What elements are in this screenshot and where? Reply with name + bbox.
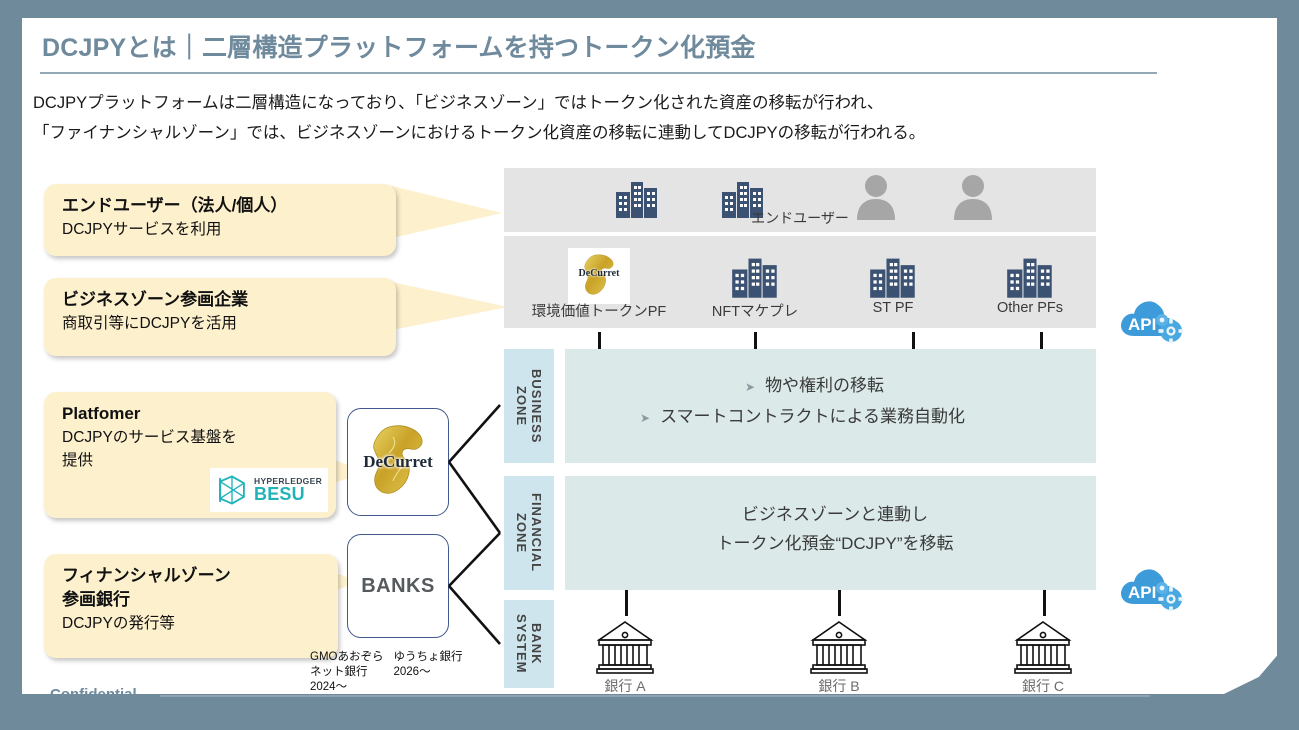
zone-tab-bank-system: BANK SYSTEM bbox=[504, 600, 554, 688]
callout-enduser-title: エンドユーザー（法人/個人） bbox=[62, 194, 382, 218]
hyperledger-besu-logo: HYPERLEDGER BESU bbox=[210, 468, 328, 512]
zone-tab-financial-label: FINANCIAL ZONE bbox=[514, 476, 544, 590]
api-cloud-icon: API bbox=[1116, 558, 1190, 618]
zone-business-bullet-2: スマートコントラクトによる業務自動化 bbox=[640, 402, 1060, 433]
page-title: DCJPYとは｜二層構造プラットフォームを持つトークン化預金 bbox=[42, 28, 756, 64]
bank-label-c: 銀行 C bbox=[1022, 676, 1064, 696]
api-cloud-icon: API bbox=[1116, 290, 1190, 350]
bank-icon bbox=[594, 618, 656, 676]
bank-note-gmo-line2: ネット銀行 bbox=[310, 665, 383, 680]
entity-box-decurret: DeCurret bbox=[347, 408, 449, 516]
callout-platformer: Platfomer DCJPYのサービス基盤を 提供 HYPERLEDGER B… bbox=[44, 392, 336, 518]
bank-label-a: 銀行 A bbox=[604, 676, 645, 696]
api-label: API bbox=[1128, 315, 1156, 334]
lede-line-1: DCJPYプラットフォームは二層構造になっており、「ビジネスゾーン」ではトークン… bbox=[33, 88, 1213, 118]
api-cloud-business: API bbox=[1116, 290, 1190, 355]
bank-note-gmo-line3: 2024〜 bbox=[310, 680, 383, 695]
callout-financial-banks: フィナンシャルゾーン 参画銀行 DCJPYの発行等 bbox=[44, 554, 338, 658]
platform-label-other: Other PFs bbox=[997, 300, 1063, 316]
callout-platformer-sub-1: DCJPYのサービス基盤を bbox=[62, 426, 322, 449]
platform-decurret-logo: DeCurret bbox=[568, 248, 630, 304]
zone-financial-line-2: トークン化預金“DCJPY”を移転 bbox=[600, 529, 1070, 558]
callout-business-sub: 商取引等にDCJPYを活用 bbox=[62, 312, 382, 335]
zone-financial-line-1: ビジネスゾーンと連動し bbox=[600, 500, 1070, 529]
building-icon bbox=[868, 252, 918, 300]
confidential-label: Confidential bbox=[50, 686, 137, 703]
participating-bank-notes: GMOあおぞら ネット銀行 2024〜 ゆうちょ銀行 2026〜 bbox=[310, 650, 510, 695]
bank-label-b: 銀行 B bbox=[818, 676, 859, 696]
footer-divider bbox=[160, 695, 1150, 697]
connector-bank-1 bbox=[625, 590, 628, 616]
connector-bank-3 bbox=[1043, 590, 1046, 616]
bank-note-gmo: GMOあおぞら ネット銀行 2024〜 bbox=[310, 650, 383, 695]
zone-business-text: 物や権利の移転 スマートコントラクトによる業務自動化 bbox=[640, 371, 1060, 433]
slide-root: DCJPYとは｜二層構造プラットフォームを持つトークン化預金 DCJPYプラット… bbox=[0, 0, 1299, 730]
zone-tab-financial: FINANCIAL ZONE bbox=[504, 476, 554, 590]
platform-decurret-wordmark: DeCurret bbox=[568, 268, 630, 279]
callout-financial-title-2: 参画銀行 bbox=[62, 588, 324, 612]
bank-note-gmo-line1: GMOあおぞら bbox=[310, 650, 383, 665]
banks-label: BANKS bbox=[361, 575, 435, 598]
bank-note-yucho: ゆうちょ銀行 2026〜 bbox=[393, 650, 462, 695]
bank-icon bbox=[1012, 618, 1074, 676]
callout-platformer-title: Platfomer bbox=[62, 402, 322, 426]
platform-label-nft: NFTマケプレ bbox=[712, 300, 798, 321]
lede-line-2: 「ファイナンシャルゾーン」では、ビジネスゾーンにおけるトークン化資産の移転に連動… bbox=[33, 118, 1213, 148]
besu-bottom-label: BESU bbox=[254, 485, 322, 503]
building-icon bbox=[730, 252, 780, 300]
decurret-wordmark: DeCurret bbox=[348, 452, 448, 472]
zone-tab-business-label: BUSINESS ZONE bbox=[514, 349, 544, 463]
bank-note-yucho-line2: 2026〜 bbox=[393, 665, 462, 680]
callout-business-companies: ビジネスゾーン参画企業 商取引等にDCJPYを活用 bbox=[44, 278, 396, 356]
callout-financial-sub: DCJPYの発行等 bbox=[62, 612, 324, 635]
platform-label-kankyo: 環境価値トークンPF bbox=[532, 300, 667, 321]
zone-tab-business: BUSINESS ZONE bbox=[504, 349, 554, 463]
besu-mark-icon bbox=[215, 473, 249, 507]
zone-financial-text: ビジネスゾーンと連動し トークン化預金“DCJPY”を移転 bbox=[600, 500, 1070, 558]
callout-enduser-sub: DCJPYサービスを利用 bbox=[62, 218, 382, 241]
bank-note-yucho-line1: ゆうちょ銀行 bbox=[393, 650, 462, 665]
title-divider bbox=[40, 72, 1157, 74]
entity-box-banks: BANKS bbox=[347, 534, 449, 638]
callout-business-title: ビジネスゾーン参画企業 bbox=[62, 288, 382, 312]
connector-bank-2 bbox=[838, 590, 841, 616]
lede-text: DCJPYプラットフォームは二層構造になっており、「ビジネスゾーン」ではトークン… bbox=[33, 88, 1213, 148]
api-label: API bbox=[1128, 583, 1156, 602]
callout-enduser: エンドユーザー（法人/個人） DCJPYサービスを利用 bbox=[44, 184, 396, 256]
zone-tab-bank-label: BANK SYSTEM bbox=[514, 600, 544, 688]
building-icon bbox=[1005, 252, 1055, 300]
callout-financial-title-1: フィナンシャルゾーン bbox=[62, 564, 324, 588]
zone-business-bullet-1: 物や権利の移転 bbox=[745, 371, 1060, 402]
bank-icon bbox=[808, 618, 870, 676]
platform-label-stpf: ST PF bbox=[873, 300, 914, 316]
api-cloud-financial: API bbox=[1116, 558, 1190, 623]
enduser-caption: エンドユーザー bbox=[504, 208, 1096, 228]
